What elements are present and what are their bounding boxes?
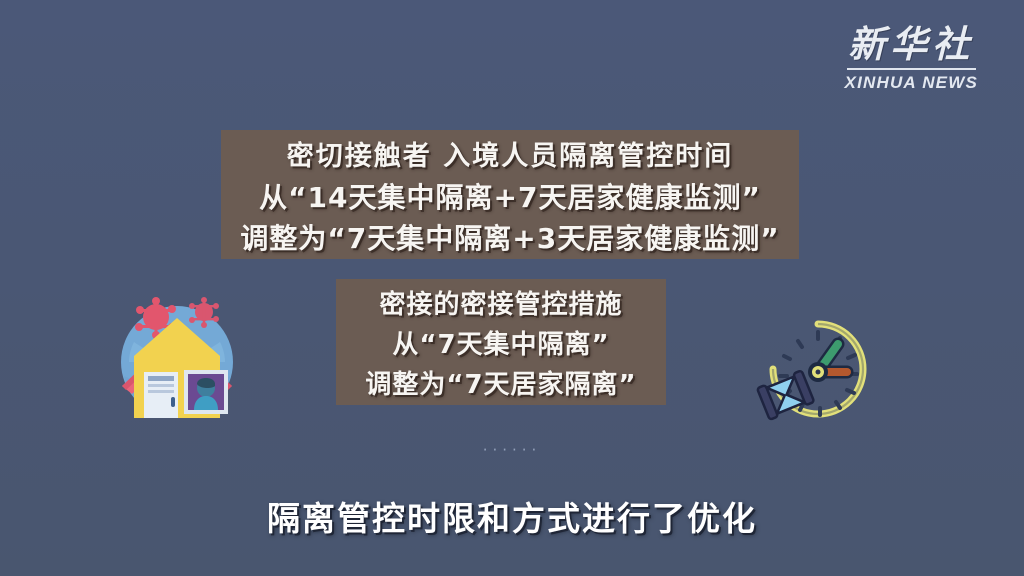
xinhua-logo: 新华社 XINHUA NEWS [845, 26, 978, 91]
video-frame: 新华社 XINHUA NEWS 密切接触者 入境人员隔离管控时间 从“14天集中… [0, 0, 1024, 576]
ellipsis-marker: ······ [0, 441, 1024, 459]
house-quarantine-icon [112, 296, 242, 424]
banner-line: 调整为“7天居家隔离” [350, 365, 652, 405]
logo-english-text: XINHUA NEWS [845, 74, 978, 91]
banner-line: 调整为“7天集中隔离+3天居家健康监测” [235, 218, 785, 259]
policy-banner-secondary: 密接的密接管控措施 从“7天集中隔离” 调整为“7天居家隔离” [336, 279, 666, 405]
banner-line: 从“7天集中隔离” [350, 325, 652, 365]
clock-hourglass-icon [744, 312, 872, 430]
subtitle-caption: 隔离管控时限和方式进行了优化 [0, 492, 1024, 540]
banner-line: 从“14天集中隔离+7天居家健康监测” [235, 177, 785, 218]
banner-line: 密接的密接管控措施 [350, 285, 652, 325]
policy-banner-primary: 密切接触者 入境人员隔离管控时间 从“14天集中隔离+7天居家健康监测” 调整为… [221, 130, 799, 259]
logo-divider [847, 68, 976, 70]
banner-line: 密切接触者 入境人员隔离管控时间 [235, 136, 785, 177]
logo-chinese-text: 新华社 [845, 26, 978, 63]
